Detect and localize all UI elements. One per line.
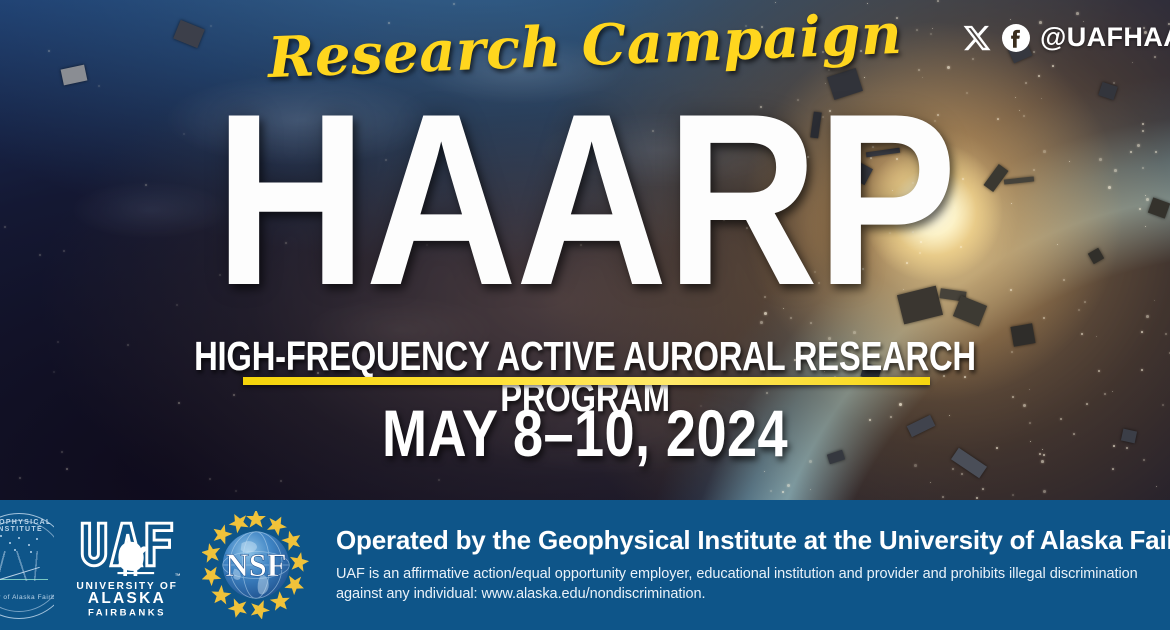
- uaf-line3: FAIRBANKS: [88, 608, 166, 619]
- social-media-cluster[interactable]: @UAFHAARP: [962, 22, 1170, 53]
- nsf-logo: NSF: [202, 511, 310, 619]
- uaf-trademark: ™: [175, 572, 181, 579]
- uaf-logo: ™ UNIVERSITY OF ALASKA FAIRBANKS: [72, 510, 182, 620]
- yellow-divider-rule: [243, 377, 930, 385]
- seal-ring-text-bottom: University of Alaska Fairbanks: [0, 594, 54, 601]
- x-twitter-icon[interactable]: [962, 23, 992, 53]
- footer-disclaimer: UAF is an affirmative action/equal oppor…: [336, 564, 1170, 604]
- uaf-line2: ALASKA: [88, 590, 166, 607]
- nsf-wordmark: NSF: [225, 548, 286, 584]
- footer-headline: Operated by the Geophysical Institute at…: [336, 526, 1170, 555]
- geophysical-institute-seal: GEOPHYSICAL INSTITUTE University of Alas…: [0, 505, 54, 625]
- debris-fragment: [1121, 429, 1137, 444]
- facebook-icon[interactable]: [1001, 23, 1031, 53]
- campaign-dates: MAY 8–10, 2024: [105, 400, 1064, 466]
- social-handle[interactable]: @UAFHAARP: [1040, 22, 1170, 53]
- footer-bar: GEOPHYSICAL INSTITUTE University of Alas…: [0, 500, 1170, 630]
- haarp-wordmark: HAARP: [82, 92, 1088, 308]
- footer-text-block: Operated by the Geophysical Institute at…: [310, 526, 1170, 604]
- logo-group: GEOPHYSICAL INSTITUTE University of Alas…: [0, 500, 310, 630]
- seal-ring-text-top: GEOPHYSICAL INSTITUTE: [0, 519, 54, 533]
- haarp-campaign-banner: @UAFHAARP Research Campaign HAARP HIGH-F…: [0, 0, 1170, 630]
